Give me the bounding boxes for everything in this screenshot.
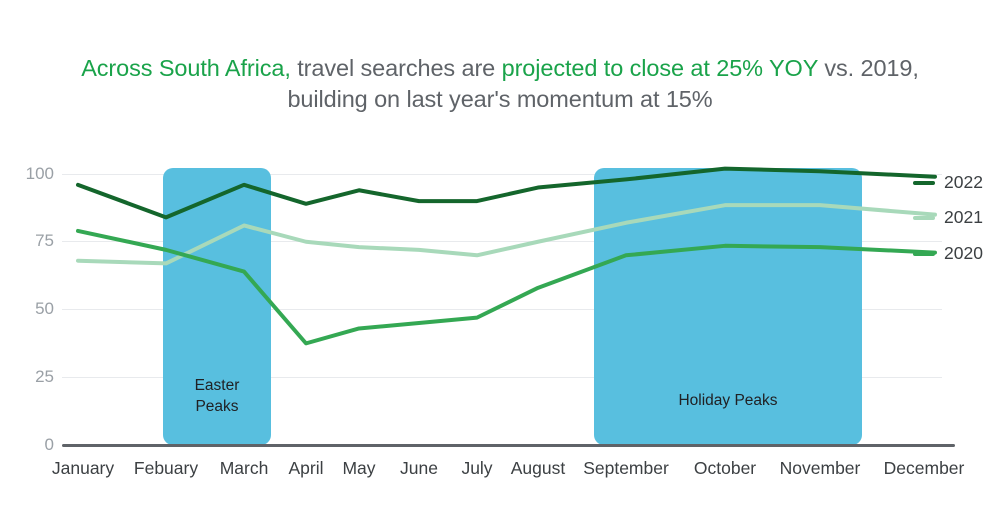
x-tick-june: June — [400, 458, 438, 479]
legend-item-2022[interactable]: 2022 — [913, 172, 983, 193]
chart-page: Across South Africa, travel searches are… — [0, 0, 1000, 525]
x-tick-november: November — [780, 458, 861, 479]
x-tick-march: March — [220, 458, 269, 479]
x-axis-line — [62, 444, 955, 447]
x-tick-may: May — [342, 458, 375, 479]
legend-item-2021[interactable]: 2021 — [913, 207, 983, 228]
title-accent-1: Across South Africa, — [81, 55, 291, 81]
x-tick-august: August — [511, 458, 565, 479]
y-tick-50: 50 — [10, 299, 54, 319]
x-tick-september: September — [583, 458, 669, 479]
title-line-1: Across South Africa, travel searches are… — [0, 53, 1000, 84]
y-tick-0: 0 — [10, 435, 54, 455]
y-tick-100: 100 — [10, 164, 54, 184]
x-tick-july: July — [461, 458, 492, 479]
x-tick-january: January — [52, 458, 114, 479]
x-tick-december: December — [884, 458, 965, 479]
legend-label-2021: 2021 — [944, 207, 983, 228]
x-tick-febuary: Febuary — [134, 458, 198, 479]
title-plain-1: travel searches are — [291, 55, 502, 81]
legend-item-2020[interactable]: 2020 — [913, 243, 983, 264]
band-label-easter: Easter Peaks — [162, 375, 272, 417]
y-tick-75: 75 — [10, 231, 54, 251]
title-accent-2: projected to close at 25% YOY — [502, 55, 818, 81]
x-tick-october: October — [694, 458, 756, 479]
legend-label-2022: 2022 — [944, 172, 983, 193]
legend-label-2020: 2020 — [944, 243, 983, 264]
x-tick-april: April — [288, 458, 323, 479]
title-line-2: building on last year's momentum at 15% — [0, 84, 1000, 115]
band-label-holiday: Holiday Peaks — [628, 390, 828, 411]
legend-swatch-2020 — [913, 252, 935, 256]
page-title: Across South Africa, travel searches are… — [0, 53, 1000, 115]
title-plain-2: vs. 2019, — [818, 55, 919, 81]
legend-swatch-2021 — [913, 216, 935, 220]
legend-swatch-2022 — [913, 181, 935, 185]
y-tick-25: 25 — [10, 367, 54, 387]
